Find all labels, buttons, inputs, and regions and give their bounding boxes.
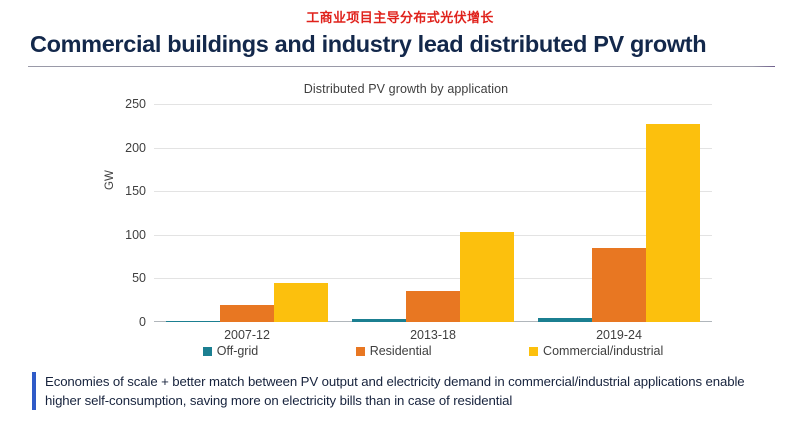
legend-swatch-icon	[356, 347, 365, 356]
chart-title: Distributed PV growth by application	[96, 82, 716, 96]
legend-label: Off-grid	[217, 344, 258, 358]
bar-group: 2019-24	[526, 104, 712, 322]
legend-item-commercial-industrial[interactable]: Commercial/industrial	[529, 344, 663, 358]
bar-residential-2007-12[interactable]	[220, 305, 274, 322]
bar-group: 2013-18	[340, 104, 526, 322]
slide: 工商业项目主导分布式光伏增长 Commercial buildings and …	[0, 0, 800, 425]
bar-commercial-industrial-2019-24[interactable]	[646, 124, 700, 322]
bar-group: 2007-12	[154, 104, 340, 322]
y-axis-tick-label: 250	[125, 97, 146, 111]
chart-legend: Off-gridResidentialCommercial/industrial	[154, 344, 712, 358]
bar-off-grid-2013-18[interactable]	[352, 319, 406, 322]
plot-area: 050100150200250 2007-122013-182019-24	[154, 104, 712, 322]
bar-off-grid-2007-12[interactable]	[166, 321, 220, 322]
legend-label: Residential	[370, 344, 432, 358]
y-axis-label: GW	[104, 170, 116, 190]
bar-commercial-industrial-2013-18[interactable]	[460, 232, 514, 322]
bar-residential-2013-18[interactable]	[406, 291, 460, 322]
legend-swatch-icon	[203, 347, 212, 356]
legend-swatch-icon	[529, 347, 538, 356]
title-divider	[28, 66, 775, 67]
legend-item-residential[interactable]: Residential	[356, 344, 432, 358]
y-axis-tick-label: 100	[125, 228, 146, 242]
bar-groups: 2007-122013-182019-24	[154, 104, 712, 322]
caption-text: Economies of scale + better match betwee…	[45, 372, 776, 410]
x-axis-tick-label: 2019-24	[526, 328, 712, 342]
chart: Distributed PV growth by application GW …	[96, 82, 716, 362]
bar-commercial-industrial-2007-12[interactable]	[274, 283, 328, 322]
caption: Economies of scale + better match betwee…	[32, 372, 776, 410]
y-axis-tick-label: 0	[139, 315, 146, 329]
page-title: Commercial buildings and industry lead d…	[30, 30, 775, 58]
bar-off-grid-2019-24[interactable]	[538, 318, 592, 322]
y-axis-tick-label: 200	[125, 141, 146, 155]
x-axis-tick-label: 2013-18	[340, 328, 526, 342]
legend-item-off-grid[interactable]: Off-grid	[203, 344, 258, 358]
y-axis-tick-label: 50	[132, 271, 146, 285]
x-axis-tick-label: 2007-12	[154, 328, 340, 342]
caption-accent-bar	[32, 372, 36, 410]
chinese-subtitle: 工商业项目主导分布式光伏增长	[0, 11, 800, 27]
y-axis-tick-label: 150	[125, 184, 146, 198]
legend-label: Commercial/industrial	[543, 344, 663, 358]
bar-residential-2019-24[interactable]	[592, 248, 646, 322]
